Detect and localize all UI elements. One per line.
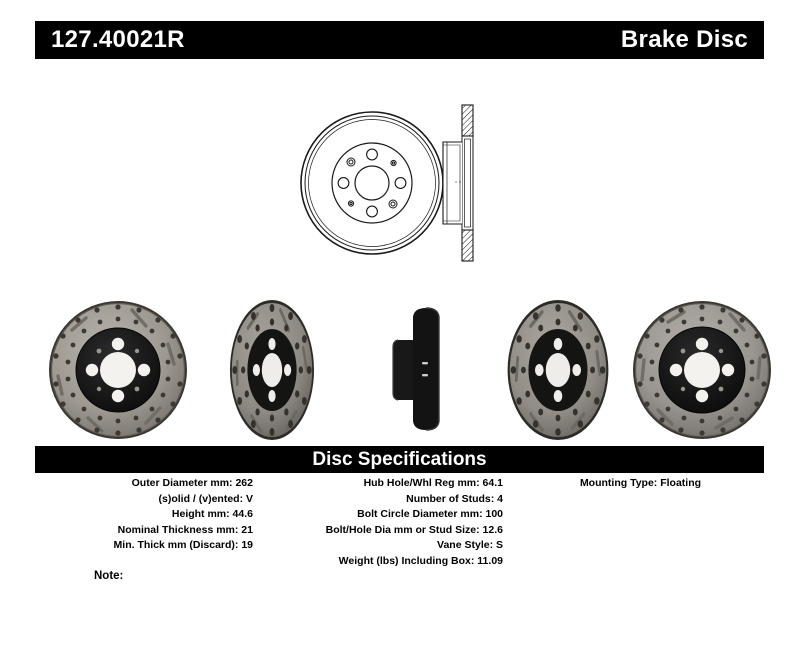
- spec-row-mounting-type: Mounting Type: Floating: [517, 476, 764, 492]
- spec-row-bolt-circle: Bolt Circle Diameter mm: 100: [267, 507, 503, 523]
- rotor-rear-drilled-slotted: [620, 296, 785, 446]
- spec-row-bolt-hole-dia: Bolt/Hole Dia mm or Stud Size: 12.6: [267, 523, 503, 539]
- spec-column-hub-and-bolt: Hub Hole/Whl Reg mm: 64.1 Number of Stud…: [267, 476, 517, 569]
- spec-column-mounting: Mounting Type: Floating: [517, 476, 764, 492]
- rotor-front-drilled-slotted: [36, 296, 201, 446]
- disc-specifications-title: Disc Specifications: [312, 450, 486, 469]
- spec-row-hub-hole: Hub Hole/Whl Reg mm: 64.1: [267, 476, 503, 492]
- engineering-drawing-group: [300, 95, 515, 280]
- spec-row-height: Height mm: 44.6: [35, 507, 253, 523]
- spec-row-vane-style: Vane Style: S: [267, 538, 503, 554]
- rotor-cross-section-line-drawing: [443, 105, 473, 261]
- spec-row-number-of-studs: Number of Studs: 4: [267, 492, 503, 508]
- rotor-face-line-drawing: [301, 112, 443, 254]
- spec-row-outer-diameter: Outer Diameter mm: 262: [35, 476, 253, 492]
- spec-row-weight: Weight (lbs) Including Box: 11.09: [267, 554, 503, 570]
- spec-row-min-thickness: Min. Thick mm (Discard): 19: [35, 538, 253, 554]
- rotor-angled-right: [488, 296, 628, 446]
- part-number: 127.40021R: [51, 28, 185, 52]
- product-type-label: Brake Disc: [621, 28, 748, 52]
- rotor-angled-left: [210, 296, 335, 446]
- header-bar: 127.40021R Brake Disc: [35, 21, 764, 59]
- specifications-table: Outer Diameter mm: 262 (s)olid / (v)ente…: [35, 476, 764, 569]
- spec-row-solid-vented: (s)olid / (v)ented: V: [35, 492, 253, 508]
- spec-column-dimensions: Outer Diameter mm: 262 (s)olid / (v)ente…: [35, 476, 267, 554]
- disc-specifications-bar: Disc Specifications: [35, 446, 764, 473]
- note-label: Note:: [94, 570, 123, 582]
- rotor-edge-profile: [372, 296, 482, 446]
- note-field: Note:: [94, 570, 123, 582]
- rotor-photo-row: [20, 296, 780, 446]
- spec-row-nominal-thickness: Nominal Thickness mm: 21: [35, 523, 253, 539]
